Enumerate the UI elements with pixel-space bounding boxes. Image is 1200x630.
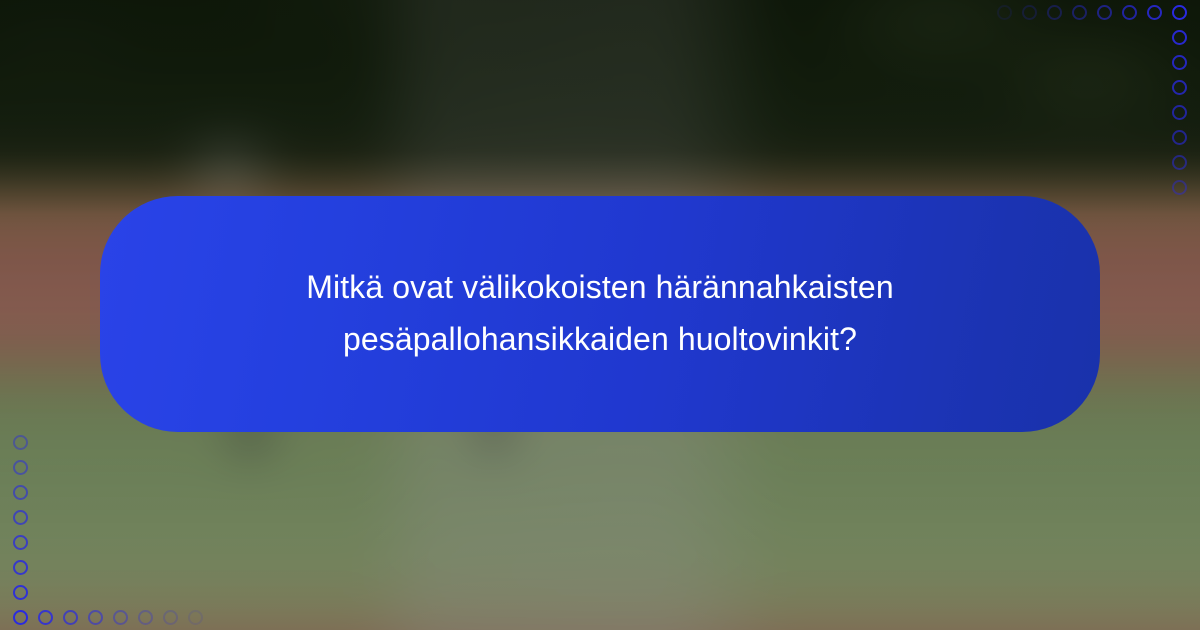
share-card-canvas: Mitkä ovat välikokoisten härännahkaisten… <box>0 0 1200 630</box>
question-card: Mitkä ovat välikokoisten härännahkaisten… <box>100 196 1100 432</box>
question-text: Mitkä ovat välikokoisten härännahkaisten… <box>235 262 965 366</box>
